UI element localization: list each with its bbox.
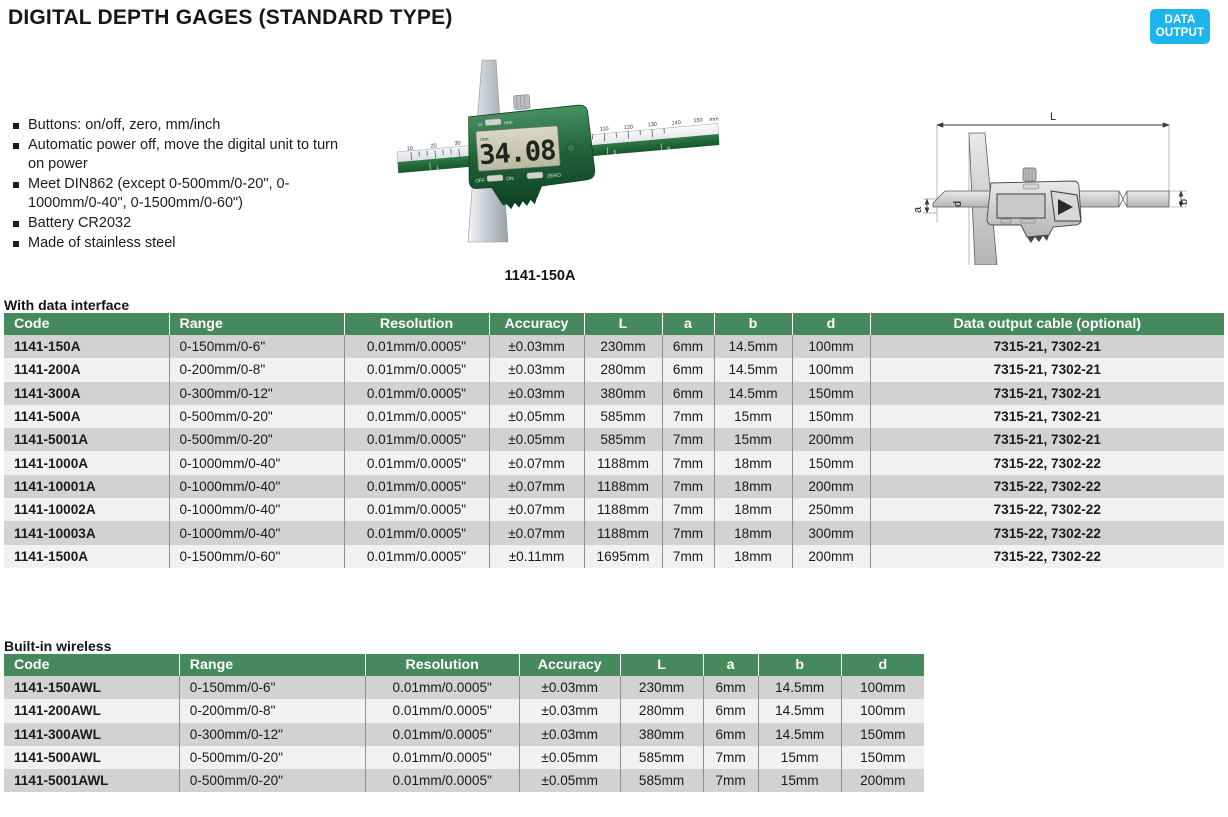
- table-header-row: Code Range Resolution Accuracy L a b d D…: [4, 313, 1224, 335]
- cell-code: 1141-300A: [4, 382, 169, 405]
- cell-range: 0-1000mm/0-40": [169, 451, 344, 474]
- cell-code: 1141-500AWL: [4, 746, 179, 769]
- cell-l: 585mm: [620, 769, 703, 792]
- cell-a: 6mm: [703, 699, 758, 722]
- cell-d: 200mm: [792, 428, 870, 451]
- cell-range: 0-300mm/0-12": [179, 723, 365, 746]
- table-row: 1141-10001A0-1000mm/0-40"0.01mm/0.0005"±…: [4, 475, 1224, 498]
- cell-a: 7mm: [662, 521, 714, 544]
- cell-accuracy: ±0.03mm: [489, 382, 584, 405]
- cell-b: 14.5mm: [714, 382, 792, 405]
- technical-drawing: L a b d: [905, 95, 1225, 265]
- cell-b: 14.5mm: [714, 358, 792, 381]
- cell-d: 100mm: [841, 676, 924, 699]
- table-row: 1141-500AWL0-500mm/0-20"0.01mm/0.0005"±0…: [4, 746, 924, 769]
- cell-accuracy: ±0.07mm: [489, 498, 584, 521]
- svg-text:150: 150: [693, 118, 703, 125]
- table-row: 1141-1000A0-1000mm/0-40"0.01mm/0.0005"±0…: [4, 451, 1224, 474]
- column-header-d: d: [792, 313, 870, 335]
- cell-resolution: 0.01mm/0.0005": [344, 358, 489, 381]
- table-row: 1141-5001AWL0-500mm/0-20"0.01mm/0.0005"±…: [4, 769, 924, 792]
- cell-range: 0-150mm/0-6": [179, 676, 365, 699]
- cell-resolution: 0.01mm/0.0005": [365, 723, 519, 746]
- cell-l: 230mm: [620, 676, 703, 699]
- cell-range: 0-300mm/0-12": [169, 382, 344, 405]
- column-header-resolution: Resolution: [365, 654, 519, 676]
- cell-b: 14.5mm: [758, 676, 841, 699]
- cell-resolution: 0.01mm/0.0005": [344, 428, 489, 451]
- cell-accuracy: ±0.07mm: [489, 521, 584, 544]
- cell-a: 6mm: [662, 335, 714, 358]
- table-row: 1141-1500A0-1500mm/0-60"0.01mm/0.0005"±0…: [4, 545, 1224, 568]
- cell-range: 0-200mm/0-8": [179, 699, 365, 722]
- cell-d: 250mm: [792, 498, 870, 521]
- cell-a: 6mm: [703, 676, 758, 699]
- cell-code: 1141-500A: [4, 405, 169, 428]
- cell-range: 0-500mm/0-20": [179, 769, 365, 792]
- spec-table-wireless: Code Range Resolution Accuracy L a b d 1…: [4, 654, 924, 792]
- feature-list: Buttons: on/off, zero, mm/inch Automatic…: [10, 116, 340, 253]
- cell-l: 1188mm: [584, 475, 662, 498]
- column-header-a: a: [703, 654, 758, 676]
- cell-l: 585mm: [584, 428, 662, 451]
- cell-l: 1695mm: [584, 545, 662, 568]
- table-row: 1141-150A0-150mm/0-6"0.01mm/0.0005"±0.03…: [4, 335, 1224, 358]
- page-title: DIGITAL DEPTH GAGES (STANDARD TYPE): [8, 6, 453, 30]
- table-body: 1141-150AWL0-150mm/0-6"0.01mm/0.0005"±0.…: [4, 676, 924, 792]
- column-header-l: L: [620, 654, 703, 676]
- column-header-b: b: [714, 313, 792, 335]
- svg-text:a: a: [912, 206, 924, 213]
- cell-b: 18mm: [714, 498, 792, 521]
- column-header-code: Code: [4, 654, 179, 676]
- cell-accuracy: ±0.07mm: [489, 451, 584, 474]
- cell-b: 18mm: [714, 475, 792, 498]
- cell-b: 14.5mm: [714, 335, 792, 358]
- svg-text:130: 130: [647, 122, 657, 129]
- column-header-accuracy: Accuracy: [519, 654, 620, 676]
- cell-a: 6mm: [662, 382, 714, 405]
- svg-text:d: d: [952, 201, 964, 207]
- cell-cable: 7315-21, 7302-21: [870, 335, 1224, 358]
- cell-code: 1141-200A: [4, 358, 169, 381]
- cell-a: 7mm: [662, 545, 714, 568]
- cell-l: 380mm: [620, 723, 703, 746]
- cell-a: 7mm: [662, 475, 714, 498]
- cell-cable: 7315-22, 7302-22: [870, 451, 1224, 474]
- column-header-a: a: [662, 313, 714, 335]
- section-heading-wireless: Built-in wireless: [4, 638, 111, 654]
- cell-resolution: 0.01mm/0.0005": [365, 699, 519, 722]
- list-item: Made of stainless steel: [10, 234, 340, 254]
- column-header-resolution: Resolution: [344, 313, 489, 335]
- svg-text:10: 10: [407, 146, 414, 152]
- cell-range: 0-500mm/0-20": [169, 428, 344, 451]
- cell-code: 1141-200AWL: [4, 699, 179, 722]
- cell-range: 0-1000mm/0-40": [169, 521, 344, 544]
- table-body: 1141-150A0-150mm/0-6"0.01mm/0.0005"±0.03…: [4, 335, 1224, 568]
- cell-resolution: 0.01mm/0.0005": [344, 545, 489, 568]
- cell-d: 150mm: [841, 746, 924, 769]
- cell-b: 18mm: [714, 521, 792, 544]
- table-row: 1141-10003A0-1000mm/0-40"0.01mm/0.0005"±…: [4, 521, 1224, 544]
- table-row: 1141-300A0-300mm/0-12"0.01mm/0.0005"±0.0…: [4, 382, 1224, 405]
- cell-code: 1141-150A: [4, 335, 169, 358]
- table-row: 1141-10002A0-1000mm/0-40"0.01mm/0.0005"±…: [4, 498, 1224, 521]
- cell-resolution: 0.01mm/0.0005": [365, 676, 519, 699]
- cell-a: 7mm: [662, 428, 714, 451]
- cell-a: 6mm: [703, 723, 758, 746]
- list-item: Automatic power off, move the digital un…: [10, 136, 340, 175]
- cell-range: 0-1000mm/0-40": [169, 475, 344, 498]
- table-row: 1141-150AWL0-150mm/0-6"0.01mm/0.0005"±0.…: [4, 676, 924, 699]
- cell-code: 1141-300AWL: [4, 723, 179, 746]
- column-header-range: Range: [179, 654, 365, 676]
- svg-text:L: L: [1050, 111, 1056, 123]
- cell-code: 1141-10001A: [4, 475, 169, 498]
- svg-text:in: in: [478, 122, 483, 128]
- svg-text:mm: mm: [709, 116, 719, 123]
- svg-text:120: 120: [624, 124, 634, 131]
- cell-l: 280mm: [620, 699, 703, 722]
- table-row: 1141-300AWL0-300mm/0-12"0.01mm/0.0005"±0…: [4, 723, 924, 746]
- cell-code: 1141-150AWL: [4, 676, 179, 699]
- list-item: Battery CR2032: [10, 214, 340, 234]
- cell-cable: 7315-22, 7302-22: [870, 545, 1224, 568]
- cell-cable: 7315-22, 7302-22: [870, 498, 1224, 521]
- spec-table-data-interface: Code Range Resolution Accuracy L a b d D…: [4, 313, 1224, 568]
- svg-text:b: b: [1178, 199, 1190, 205]
- cell-cable: 7315-22, 7302-22: [870, 475, 1224, 498]
- cell-resolution: 0.01mm/0.0005": [344, 405, 489, 428]
- table-row: 1141-200AWL0-200mm/0-8"0.01mm/0.0005"±0.…: [4, 699, 924, 722]
- cell-cable: 7315-22, 7302-22: [870, 521, 1224, 544]
- cell-cable: 7315-21, 7302-21: [870, 358, 1224, 381]
- cell-range: 0-150mm/0-6": [169, 335, 344, 358]
- cell-accuracy: ±0.03mm: [489, 358, 584, 381]
- cell-code: 1141-5001A: [4, 428, 169, 451]
- cell-l: 1188mm: [584, 498, 662, 521]
- cell-l: 230mm: [584, 335, 662, 358]
- cell-b: 15mm: [714, 428, 792, 451]
- data-output-badge: DATA OUTPUT: [1150, 9, 1210, 44]
- svg-text:34.08: 34.08: [478, 135, 556, 171]
- cell-accuracy: ±0.05mm: [489, 405, 584, 428]
- cell-accuracy: ±0.11mm: [489, 545, 584, 568]
- list-item: Meet DIN862 (except 0-500mm/0-20", 0-100…: [10, 175, 340, 214]
- cell-d: 150mm: [841, 723, 924, 746]
- svg-text:ZERO: ZERO: [547, 173, 561, 180]
- cell-accuracy: ±0.03mm: [519, 723, 620, 746]
- cell-accuracy: ±0.05mm: [489, 428, 584, 451]
- svg-text:mm: mm: [504, 120, 513, 127]
- cell-b: 18mm: [714, 451, 792, 474]
- cell-code: 1141-5001AWL: [4, 769, 179, 792]
- product-photo: 102030 100110120 130140150 mm 156: [350, 52, 730, 267]
- badge-line-2: OUTPUT: [1156, 27, 1204, 40]
- cell-cable: 7315-21, 7302-21: [870, 405, 1224, 428]
- cell-a: 7mm: [662, 451, 714, 474]
- svg-text:INSIZE: INSIZE: [681, 148, 704, 157]
- cell-resolution: 0.01mm/0.0005": [344, 335, 489, 358]
- column-header-range: Range: [169, 313, 344, 335]
- cell-b: 14.5mm: [758, 699, 841, 722]
- svg-text:OFF: OFF: [475, 178, 485, 185]
- badge-line-1: DATA: [1164, 14, 1195, 27]
- cell-resolution: 0.01mm/0.0005": [365, 769, 519, 792]
- table-header-row: Code Range Resolution Accuracy L a b d: [4, 654, 924, 676]
- cell-l: 1188mm: [584, 451, 662, 474]
- section-heading-data-interface: With data interface: [4, 297, 129, 313]
- column-header-d: d: [841, 654, 924, 676]
- cell-code: 1141-10002A: [4, 498, 169, 521]
- cell-resolution: 0.01mm/0.0005": [344, 475, 489, 498]
- svg-text:ON: ON: [506, 176, 514, 183]
- cell-cable: 7315-21, 7302-21: [870, 428, 1224, 451]
- cell-a: 7mm: [662, 498, 714, 521]
- cell-code: 1141-1000A: [4, 451, 169, 474]
- list-item: Buttons: on/off, zero, mm/inch: [10, 116, 340, 136]
- cell-range: 0-500mm/0-20": [169, 405, 344, 428]
- cell-d: 100mm: [792, 358, 870, 381]
- cell-range: 0-1000mm/0-40": [169, 498, 344, 521]
- column-header-accuracy: Accuracy: [489, 313, 584, 335]
- cell-code: 1141-10003A: [4, 521, 169, 544]
- cell-a: 7mm: [662, 405, 714, 428]
- cell-resolution: 0.01mm/0.0005": [344, 521, 489, 544]
- cell-d: 200mm: [841, 769, 924, 792]
- cell-b: 15mm: [758, 769, 841, 792]
- cell-l: 585mm: [620, 746, 703, 769]
- cell-a: 7mm: [703, 746, 758, 769]
- column-header-b: b: [758, 654, 841, 676]
- cell-d: 150mm: [792, 405, 870, 428]
- cell-d: 150mm: [792, 382, 870, 405]
- cell-cable: 7315-21, 7302-21: [870, 382, 1224, 405]
- cell-l: 380mm: [584, 382, 662, 405]
- cell-range: 0-200mm/0-8": [169, 358, 344, 381]
- table-row: 1141-5001A0-500mm/0-20"0.01mm/0.0005"±0.…: [4, 428, 1224, 451]
- cell-d: 300mm: [792, 521, 870, 544]
- cell-range: 0-1500mm/0-60": [169, 545, 344, 568]
- svg-text:110: 110: [600, 126, 609, 133]
- cell-accuracy: ±0.05mm: [519, 746, 620, 769]
- cell-d: 100mm: [792, 335, 870, 358]
- svg-text:30: 30: [454, 140, 461, 146]
- column-header-l: L: [584, 313, 662, 335]
- cell-range: 0-500mm/0-20": [179, 746, 365, 769]
- table-row: 1141-500A0-500mm/0-20"0.01mm/0.0005"±0.0…: [4, 405, 1224, 428]
- product-caption: 1141-150A: [350, 268, 730, 284]
- cell-resolution: 0.01mm/0.0005": [344, 498, 489, 521]
- cell-a: 7mm: [703, 769, 758, 792]
- cell-code: 1141-1500A: [4, 545, 169, 568]
- cell-d: 100mm: [841, 699, 924, 722]
- svg-text:140: 140: [671, 120, 681, 127]
- cell-l: 1188mm: [584, 521, 662, 544]
- cell-a: 6mm: [662, 358, 714, 381]
- cell-l: 585mm: [584, 405, 662, 428]
- column-header-cable: Data output cable (optional): [870, 313, 1224, 335]
- cell-l: 280mm: [584, 358, 662, 381]
- cell-accuracy: ±0.07mm: [489, 475, 584, 498]
- svg-text:20: 20: [430, 143, 437, 149]
- cell-b: 18mm: [714, 545, 792, 568]
- depth-gage-photo-svg: 102030 100110120 130140150 mm 156: [350, 52, 730, 267]
- cell-d: 200mm: [792, 545, 870, 568]
- cell-accuracy: ±0.05mm: [519, 769, 620, 792]
- table-row: 1141-200A0-200mm/0-8"0.01mm/0.0005"±0.03…: [4, 358, 1224, 381]
- cell-resolution: 0.01mm/0.0005": [344, 382, 489, 405]
- cell-b: 15mm: [758, 746, 841, 769]
- cell-resolution: 0.01mm/0.0005": [344, 451, 489, 474]
- cell-d: 200mm: [792, 475, 870, 498]
- cell-b: 14.5mm: [758, 723, 841, 746]
- cell-resolution: 0.01mm/0.0005": [365, 746, 519, 769]
- column-header-code: Code: [4, 313, 169, 335]
- cell-d: 150mm: [792, 451, 870, 474]
- cell-b: 15mm: [714, 405, 792, 428]
- cell-accuracy: ±0.03mm: [489, 335, 584, 358]
- cell-accuracy: ±0.03mm: [519, 676, 620, 699]
- cell-accuracy: ±0.03mm: [519, 699, 620, 722]
- dimension-drawing-svg: L a b d: [905, 95, 1225, 265]
